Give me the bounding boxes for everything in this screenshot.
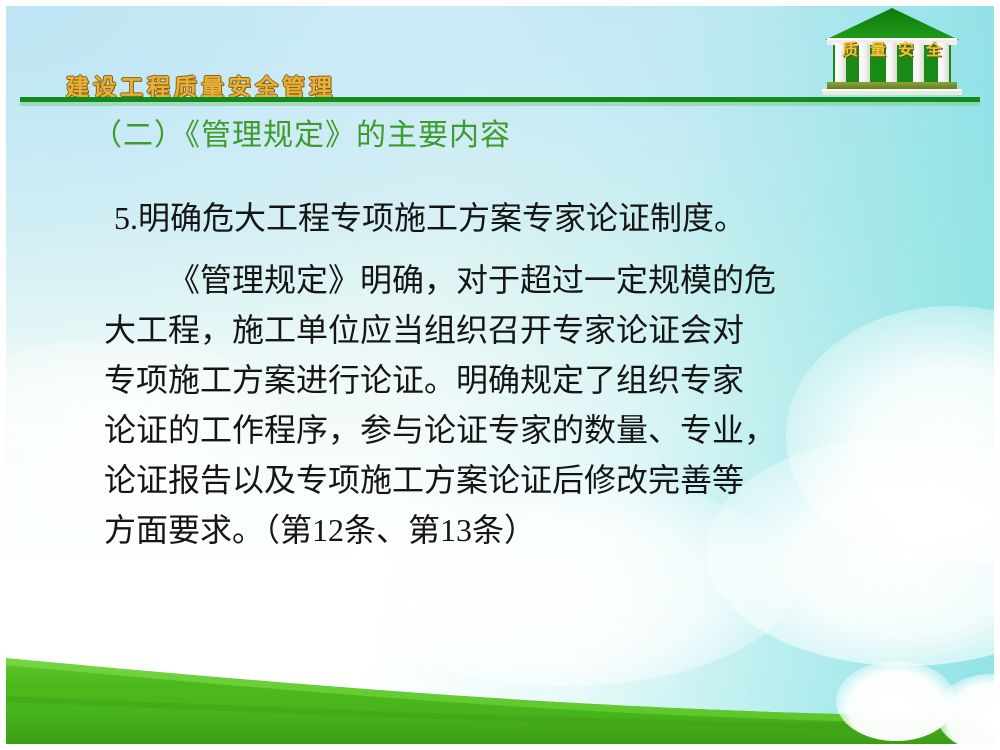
- paragraph-line: 专项施工方案进行论证。明确规定了组织专家: [104, 355, 934, 405]
- grass-hill-decoration: [6, 604, 994, 744]
- slide-body: （二）《管理规定》的主要内容 5.明确危大工程专项施工方案专家论证制度。 《管理…: [6, 116, 994, 555]
- paragraph-line: 《管理规定》明确，对于超过一定规模的危: [104, 255, 934, 305]
- paragraph-line: 论证报告以及专项施工方案论证后修改完善等: [104, 455, 934, 505]
- presentation-slide: 建设工程质量安全管理: [0, 0, 1000, 750]
- slide-canvas: 建设工程质量安全管理: [6, 6, 994, 744]
- numbered-bullet-heading: 5.明确危大工程专项施工方案专家论证制度。: [114, 193, 994, 239]
- header-divider-shadow: [20, 102, 980, 106]
- paragraph-line: 方面要求。（第12条、第13条）: [104, 505, 934, 555]
- paragraph-line: 大工程，施工单位应当组织召开专家论证会对: [104, 305, 934, 355]
- quality-safety-building-icon: 质量安全: [809, 6, 975, 100]
- body-paragraph: 《管理规定》明确，对于超过一定规模的危 大工程，施工单位应当组织召开专家论证会对…: [104, 255, 934, 555]
- section-heading: （二）《管理规定》的主要内容: [92, 116, 994, 155]
- paragraph-line: 论证的工作程序，参与论证专家的数量、专业，: [104, 405, 934, 455]
